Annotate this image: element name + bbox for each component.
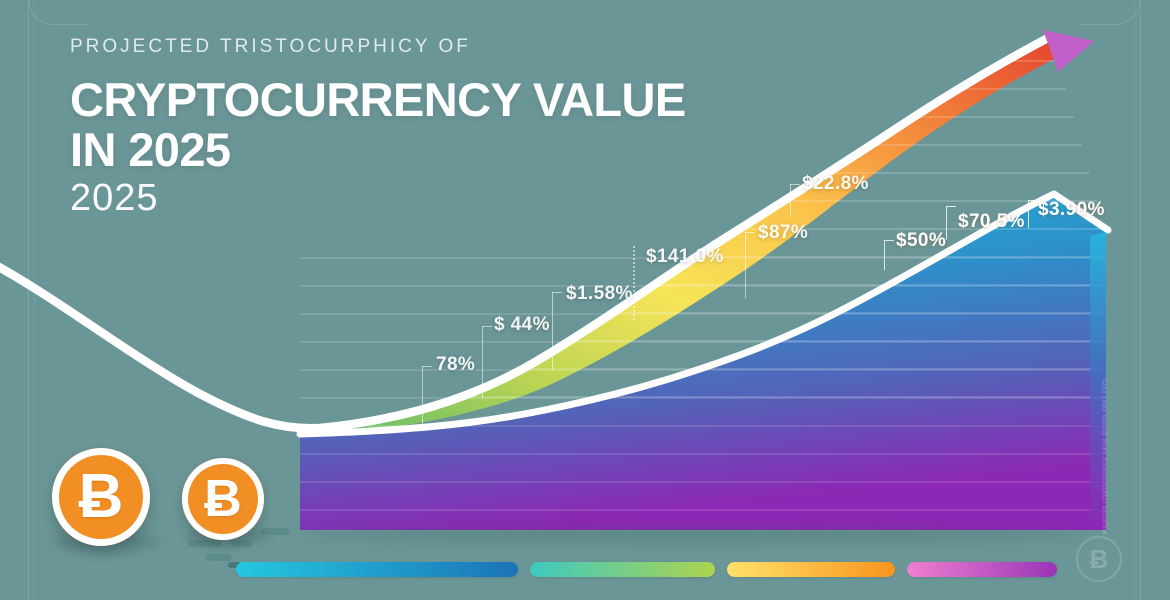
- bitcoin-symbol: Ƀ: [1090, 544, 1109, 575]
- infographic-poster: PROJECTED TRISTOCURPHICY OF CRYPTOCURREN…: [0, 0, 1170, 600]
- legend: [236, 558, 1096, 580]
- data-label-3: $1.58%: [566, 283, 633, 305]
- trend-arrowhead: [1043, 30, 1094, 72]
- plot-edge-micro-text: projected cryptocurrency value growth in…: [1102, 378, 1108, 534]
- bitcoin-symbol: Ƀ: [79, 466, 124, 528]
- data-label-8: $70 5%: [958, 211, 1025, 233]
- data-label-2: $ 44%: [494, 314, 550, 336]
- plot-ground-shadow: [300, 527, 1090, 543]
- data-label-5: $87%: [758, 222, 808, 244]
- data-label-6: $22.8%: [802, 173, 869, 195]
- legend-pill-pink-purple[interactable]: [907, 562, 1057, 577]
- bitcoin-coin-large-icon: Ƀ: [52, 448, 150, 546]
- data-label-4: $141.0%: [646, 246, 724, 268]
- page-kicker: PROJECTED TRISTOCURPHICY OF: [70, 36, 790, 59]
- page-title: CRYPTOCURRENCY VALUE IN 2025: [70, 75, 790, 175]
- legend-pill-cyan-blue[interactable]: [236, 562, 518, 577]
- data-label-1: 78%: [436, 354, 475, 376]
- bitcoin-symbol: Ƀ: [204, 473, 242, 525]
- bitcoin-watermark-icon: Ƀ: [1076, 536, 1122, 582]
- bitcoin-coin-small-icon: Ƀ: [182, 458, 264, 540]
- legend-pill-teal-green[interactable]: [530, 562, 715, 577]
- legend-pill-yellow-orange[interactable]: [727, 562, 895, 577]
- page-subtitle: 2025: [70, 178, 790, 220]
- page-title-line-2: IN 2025: [70, 125, 790, 175]
- title-block: PROJECTED TRISTOCURPHICY OF CRYPTOCURREN…: [70, 36, 790, 220]
- page-title-line-1: CRYPTOCURRENCY VALUE: [70, 73, 686, 126]
- decor-dash-4: [206, 554, 232, 561]
- data-label-9: $3.90%: [1038, 199, 1105, 221]
- data-label-7: $50%: [896, 230, 946, 252]
